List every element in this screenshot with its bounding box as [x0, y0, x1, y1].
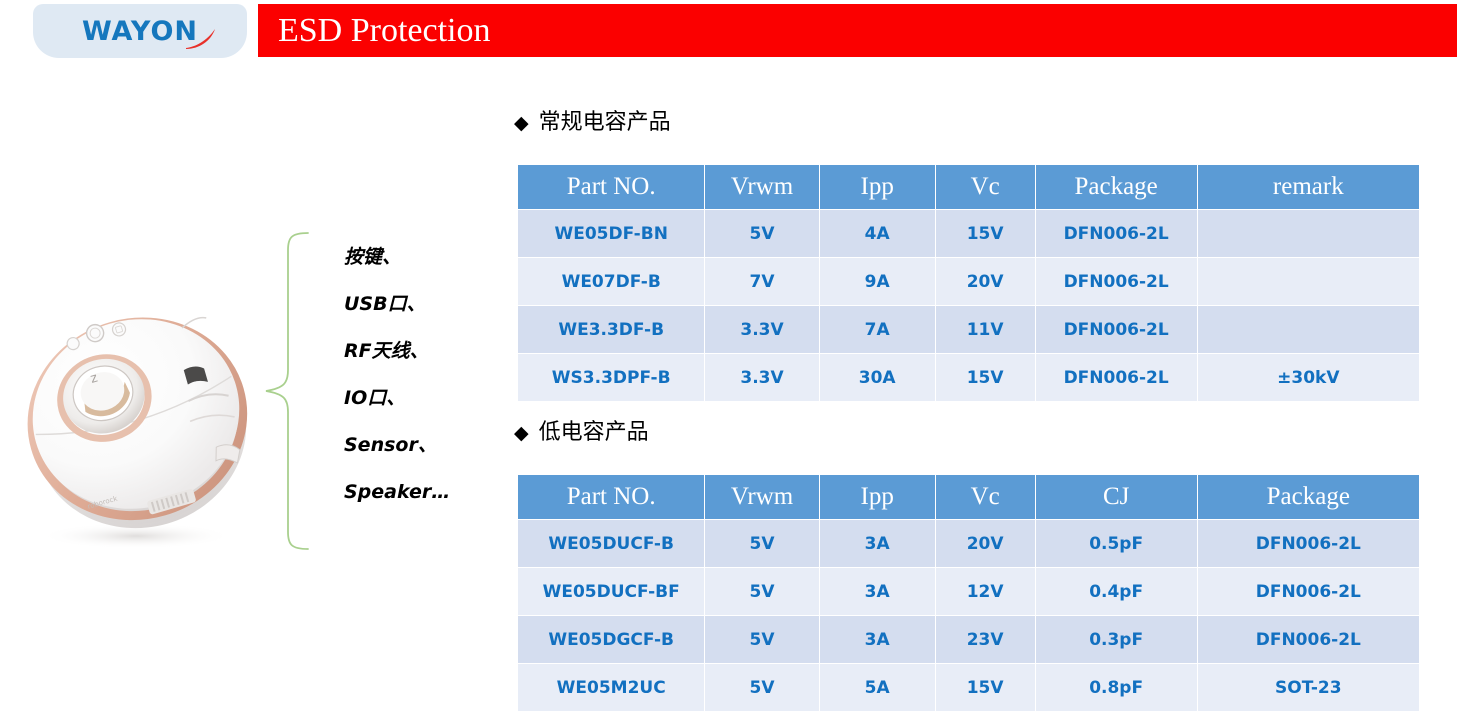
column-header-vc: Vc: [935, 475, 1035, 520]
table-header-row: Part NO. Vrwm Ipp Vc CJ Package: [518, 475, 1420, 520]
cell-package: DFN006-2L: [1197, 616, 1419, 664]
cell-package: DFN006-2L: [1197, 520, 1419, 568]
cell-package: DFN006-2L: [1035, 258, 1197, 306]
cell-vrwm: 5V: [705, 210, 819, 258]
cell-ipp: 3A: [819, 520, 935, 568]
cell-vc: 12V: [935, 568, 1035, 616]
cell-package: SOT-23: [1197, 664, 1419, 712]
cell-ipp: 30A: [819, 354, 935, 402]
cell-part-no: WE3.3DF-B: [518, 306, 705, 354]
section-title-regular-capacitance: ◆常规电容产品: [514, 104, 671, 136]
cell-remark: [1197, 258, 1419, 306]
cell-vc: 23V: [935, 616, 1035, 664]
cell-remark: [1197, 306, 1419, 354]
feature-label-item: RF天线、: [344, 328, 504, 375]
page-title: ESD Protection: [278, 4, 490, 57]
feature-label-list: 按键、 USB口、 RF天线、 IO口、 Sensor、 Speaker…: [344, 234, 504, 516]
table-row: WE3.3DF-B 3.3V 7A 11V DFN006-2L: [518, 306, 1420, 354]
green-curly-brace: [262, 230, 310, 552]
cell-ipp: 4A: [819, 210, 935, 258]
cell-vrwm: 5V: [705, 568, 819, 616]
page-header: WAYON ESD Protection: [0, 0, 1457, 62]
feature-label-item: 按键、: [344, 234, 504, 281]
table-row: WE05DUCF-B 5V 3A 20V 0.5pF DFN006-2L: [518, 520, 1420, 568]
cell-package: DFN006-2L: [1035, 210, 1197, 258]
cell-package: DFN006-2L: [1197, 568, 1419, 616]
cell-part-no: WE07DF-B: [518, 258, 705, 306]
cell-vrwm: 5V: [705, 616, 819, 664]
cell-package: DFN006-2L: [1035, 306, 1197, 354]
cell-vc: 20V: [935, 258, 1035, 306]
cell-part-no: WE05DUCF-BF: [518, 568, 705, 616]
cell-cj: 0.4pF: [1035, 568, 1197, 616]
column-header-vrwm: Vrwm: [705, 475, 819, 520]
cell-vc: 15V: [935, 664, 1035, 712]
cell-cj: 0.8pF: [1035, 664, 1197, 712]
curly-brace-icon: [262, 230, 310, 552]
cell-cj: 0.3pF: [1035, 616, 1197, 664]
robot-vacuum-illustration: z: [18, 286, 256, 554]
cell-part-no: WS3.3DPF-B: [518, 354, 705, 402]
table-row: WE07DF-B 7V 9A 20V DFN006-2L: [518, 258, 1420, 306]
cell-remark: [1197, 210, 1419, 258]
cell-vrwm: 5V: [705, 664, 819, 712]
feature-label-item: Speaker…: [344, 469, 504, 516]
column-header-vc: Vc: [935, 165, 1035, 210]
section-title-text: 低电容产品: [539, 420, 649, 445]
cell-ipp: 3A: [819, 616, 935, 664]
cell-vc: 15V: [935, 210, 1035, 258]
feature-label-item: IO口、: [344, 375, 504, 422]
cell-part-no: WE05M2UC: [518, 664, 705, 712]
cell-ipp: 3A: [819, 568, 935, 616]
cell-vc: 20V: [935, 520, 1035, 568]
column-header-part-no: Part NO.: [518, 475, 705, 520]
robot-vacuum-image: z: [18, 286, 256, 554]
cell-ipp: 7A: [819, 306, 935, 354]
cell-vrwm: 5V: [705, 520, 819, 568]
diamond-bullet-icon: ◆: [514, 112, 529, 134]
table-row: WS3.3DPF-B 3.3V 30A 15V DFN006-2L ±30kV: [518, 354, 1420, 402]
cell-vc: 11V: [935, 306, 1035, 354]
cell-cj: 0.5pF: [1035, 520, 1197, 568]
cell-vc: 15V: [935, 354, 1035, 402]
cell-part-no: WE05DF-BN: [518, 210, 705, 258]
cell-part-no: WE05DGCF-B: [518, 616, 705, 664]
table-row: WE05DUCF-BF 5V 3A 12V 0.4pF DFN006-2L: [518, 568, 1420, 616]
column-header-package: Package: [1035, 165, 1197, 210]
feature-label-item: USB口、: [344, 281, 504, 328]
cell-part-no: WE05DUCF-B: [518, 520, 705, 568]
feature-label-item: Sensor、: [344, 422, 504, 469]
cell-ipp: 9A: [819, 258, 935, 306]
cell-remark: ±30kV: [1197, 354, 1419, 402]
column-header-vrwm: Vrwm: [705, 165, 819, 210]
wayon-logo-text: WAYON: [33, 4, 247, 58]
column-header-ipp: Ipp: [819, 165, 935, 210]
cell-vrwm: 3.3V: [705, 306, 819, 354]
cell-vrwm: 3.3V: [705, 354, 819, 402]
column-header-ipp: Ipp: [819, 475, 935, 520]
table-row: WE05DF-BN 5V 4A 15V DFN006-2L: [518, 210, 1420, 258]
cell-vrwm: 7V: [705, 258, 819, 306]
column-header-package: Package: [1197, 475, 1419, 520]
low-capacitance-table: Part NO. Vrwm Ipp Vc CJ Package WE05DUCF…: [517, 475, 1420, 712]
wayon-logo-badge: WAYON: [33, 4, 247, 58]
table-row: WE05M2UC 5V 5A 15V 0.8pF SOT-23: [518, 664, 1420, 712]
regular-capacitance-table: Part NO. Vrwm Ipp Vc Package remark WE05…: [517, 165, 1420, 402]
column-header-part-no: Part NO.: [518, 165, 705, 210]
section-title-text: 常规电容产品: [539, 110, 671, 135]
column-header-remark: remark: [1197, 165, 1419, 210]
diamond-bullet-icon: ◆: [514, 422, 529, 444]
table-row: WE05DGCF-B 5V 3A 23V 0.3pF DFN006-2L: [518, 616, 1420, 664]
section-title-low-capacitance: ◆低电容产品: [514, 414, 649, 446]
column-header-cj: CJ: [1035, 475, 1197, 520]
cell-package: DFN006-2L: [1035, 354, 1197, 402]
table-header-row: Part NO. Vrwm Ipp Vc Package remark: [518, 165, 1420, 210]
esd-protection-banner: ESD Protection: [258, 4, 1457, 57]
cell-ipp: 5A: [819, 664, 935, 712]
